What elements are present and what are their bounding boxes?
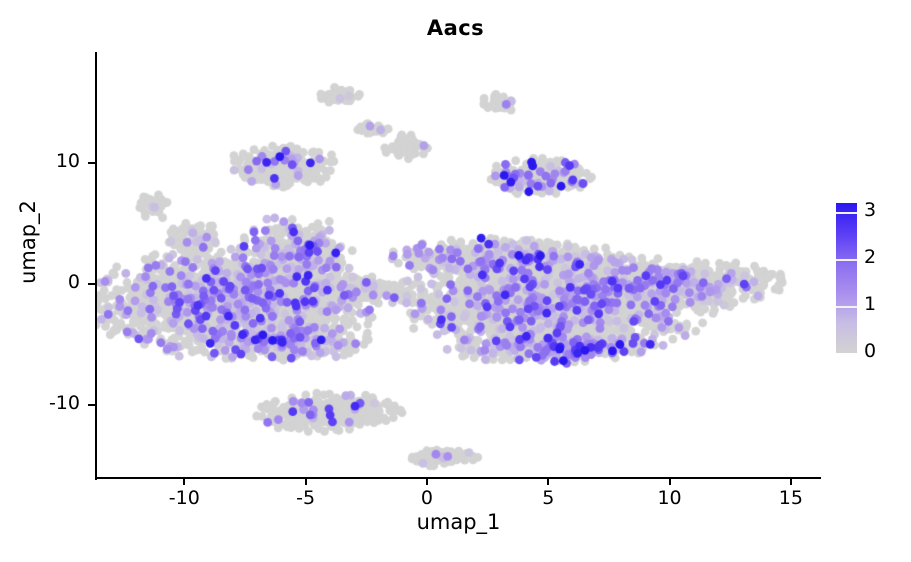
x-tick-mark bbox=[547, 479, 549, 485]
x-tick-mark bbox=[790, 479, 792, 485]
x-tick-mark bbox=[183, 479, 185, 485]
y-tick-mark bbox=[88, 162, 95, 164]
colorbar-tick-label: 2 bbox=[864, 246, 898, 268]
x-tick-label: -10 bbox=[154, 487, 214, 509]
figure-root: Aacs -10-5051015 100-10 umap_1 umap_2 32… bbox=[0, 0, 911, 562]
x-axis-label: umap_1 bbox=[97, 510, 820, 534]
x-tick-label: 0 bbox=[397, 487, 457, 509]
x-tick-label: 5 bbox=[518, 487, 578, 509]
colorbar-tick-label: 0 bbox=[864, 340, 898, 362]
y-tick-label: -10 bbox=[16, 392, 80, 414]
page-title: Aacs bbox=[0, 16, 911, 40]
x-tick-mark bbox=[426, 479, 428, 485]
colorbar-tick-mark bbox=[836, 259, 857, 261]
x-tick-mark bbox=[305, 479, 307, 485]
scatter-plot-canvas bbox=[97, 52, 820, 478]
colorbar-tick-mark bbox=[836, 212, 857, 214]
y-axis-label: umap_2 bbox=[16, 162, 40, 322]
y-tick-mark bbox=[88, 404, 95, 406]
colorbar-tick-label: 1 bbox=[864, 293, 898, 315]
plot-axes-area bbox=[97, 52, 820, 478]
x-axis-spine bbox=[95, 477, 821, 479]
colorbar: 3210 bbox=[836, 203, 906, 355]
x-tick-mark bbox=[669, 479, 671, 485]
colorbar-gradient bbox=[836, 203, 857, 353]
x-tick-label: 15 bbox=[761, 487, 821, 509]
colorbar-tick-mark bbox=[836, 306, 857, 308]
y-tick-mark bbox=[88, 283, 95, 285]
x-tick-label: 10 bbox=[640, 487, 700, 509]
colorbar-tick-label: 3 bbox=[864, 199, 898, 221]
x-tick-label: -5 bbox=[276, 487, 336, 509]
y-axis-spine bbox=[95, 52, 97, 480]
